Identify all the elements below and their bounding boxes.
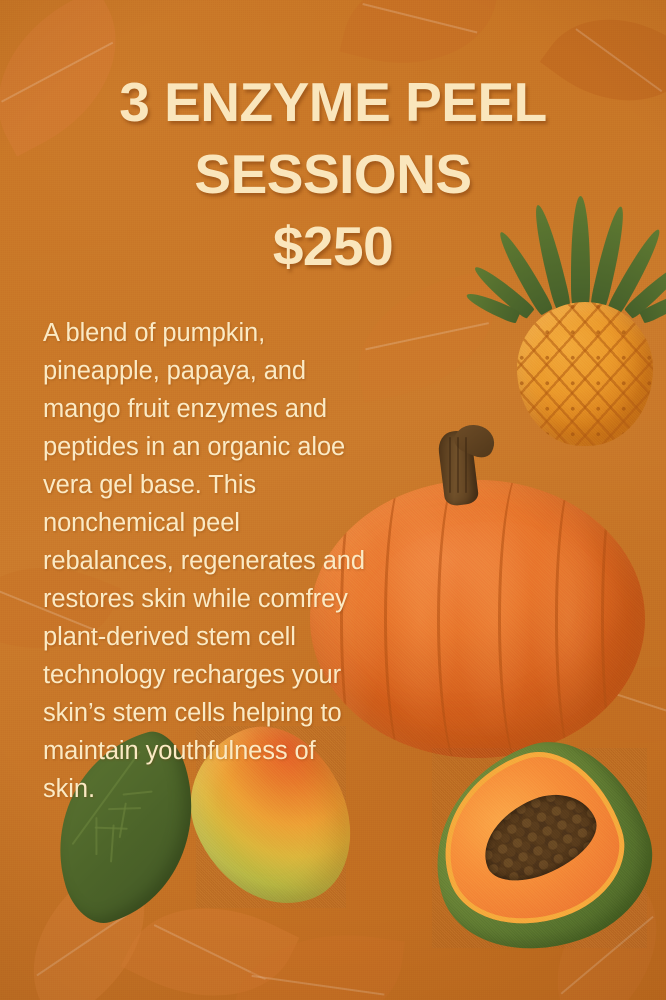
headline-line-1: 3 ENZYME PEEL — [26, 66, 640, 138]
pumpkin-stem — [433, 425, 499, 503]
description-text: A blend of pumpkin, pineapple, papaya, a… — [43, 314, 373, 808]
poster-description: A blend of pumpkin, pineapple, papaya, a… — [43, 314, 373, 808]
poster-headline: 3 ENZYME PEEL SESSIONS $250 — [0, 66, 666, 282]
headline-line-2: SESSIONS — [26, 138, 640, 210]
headline-price: $250 — [26, 210, 640, 282]
poster-canvas: 3 ENZYME PEEL SESSIONS $250 A blend of p… — [0, 0, 666, 1000]
papaya-illustration — [432, 748, 647, 948]
